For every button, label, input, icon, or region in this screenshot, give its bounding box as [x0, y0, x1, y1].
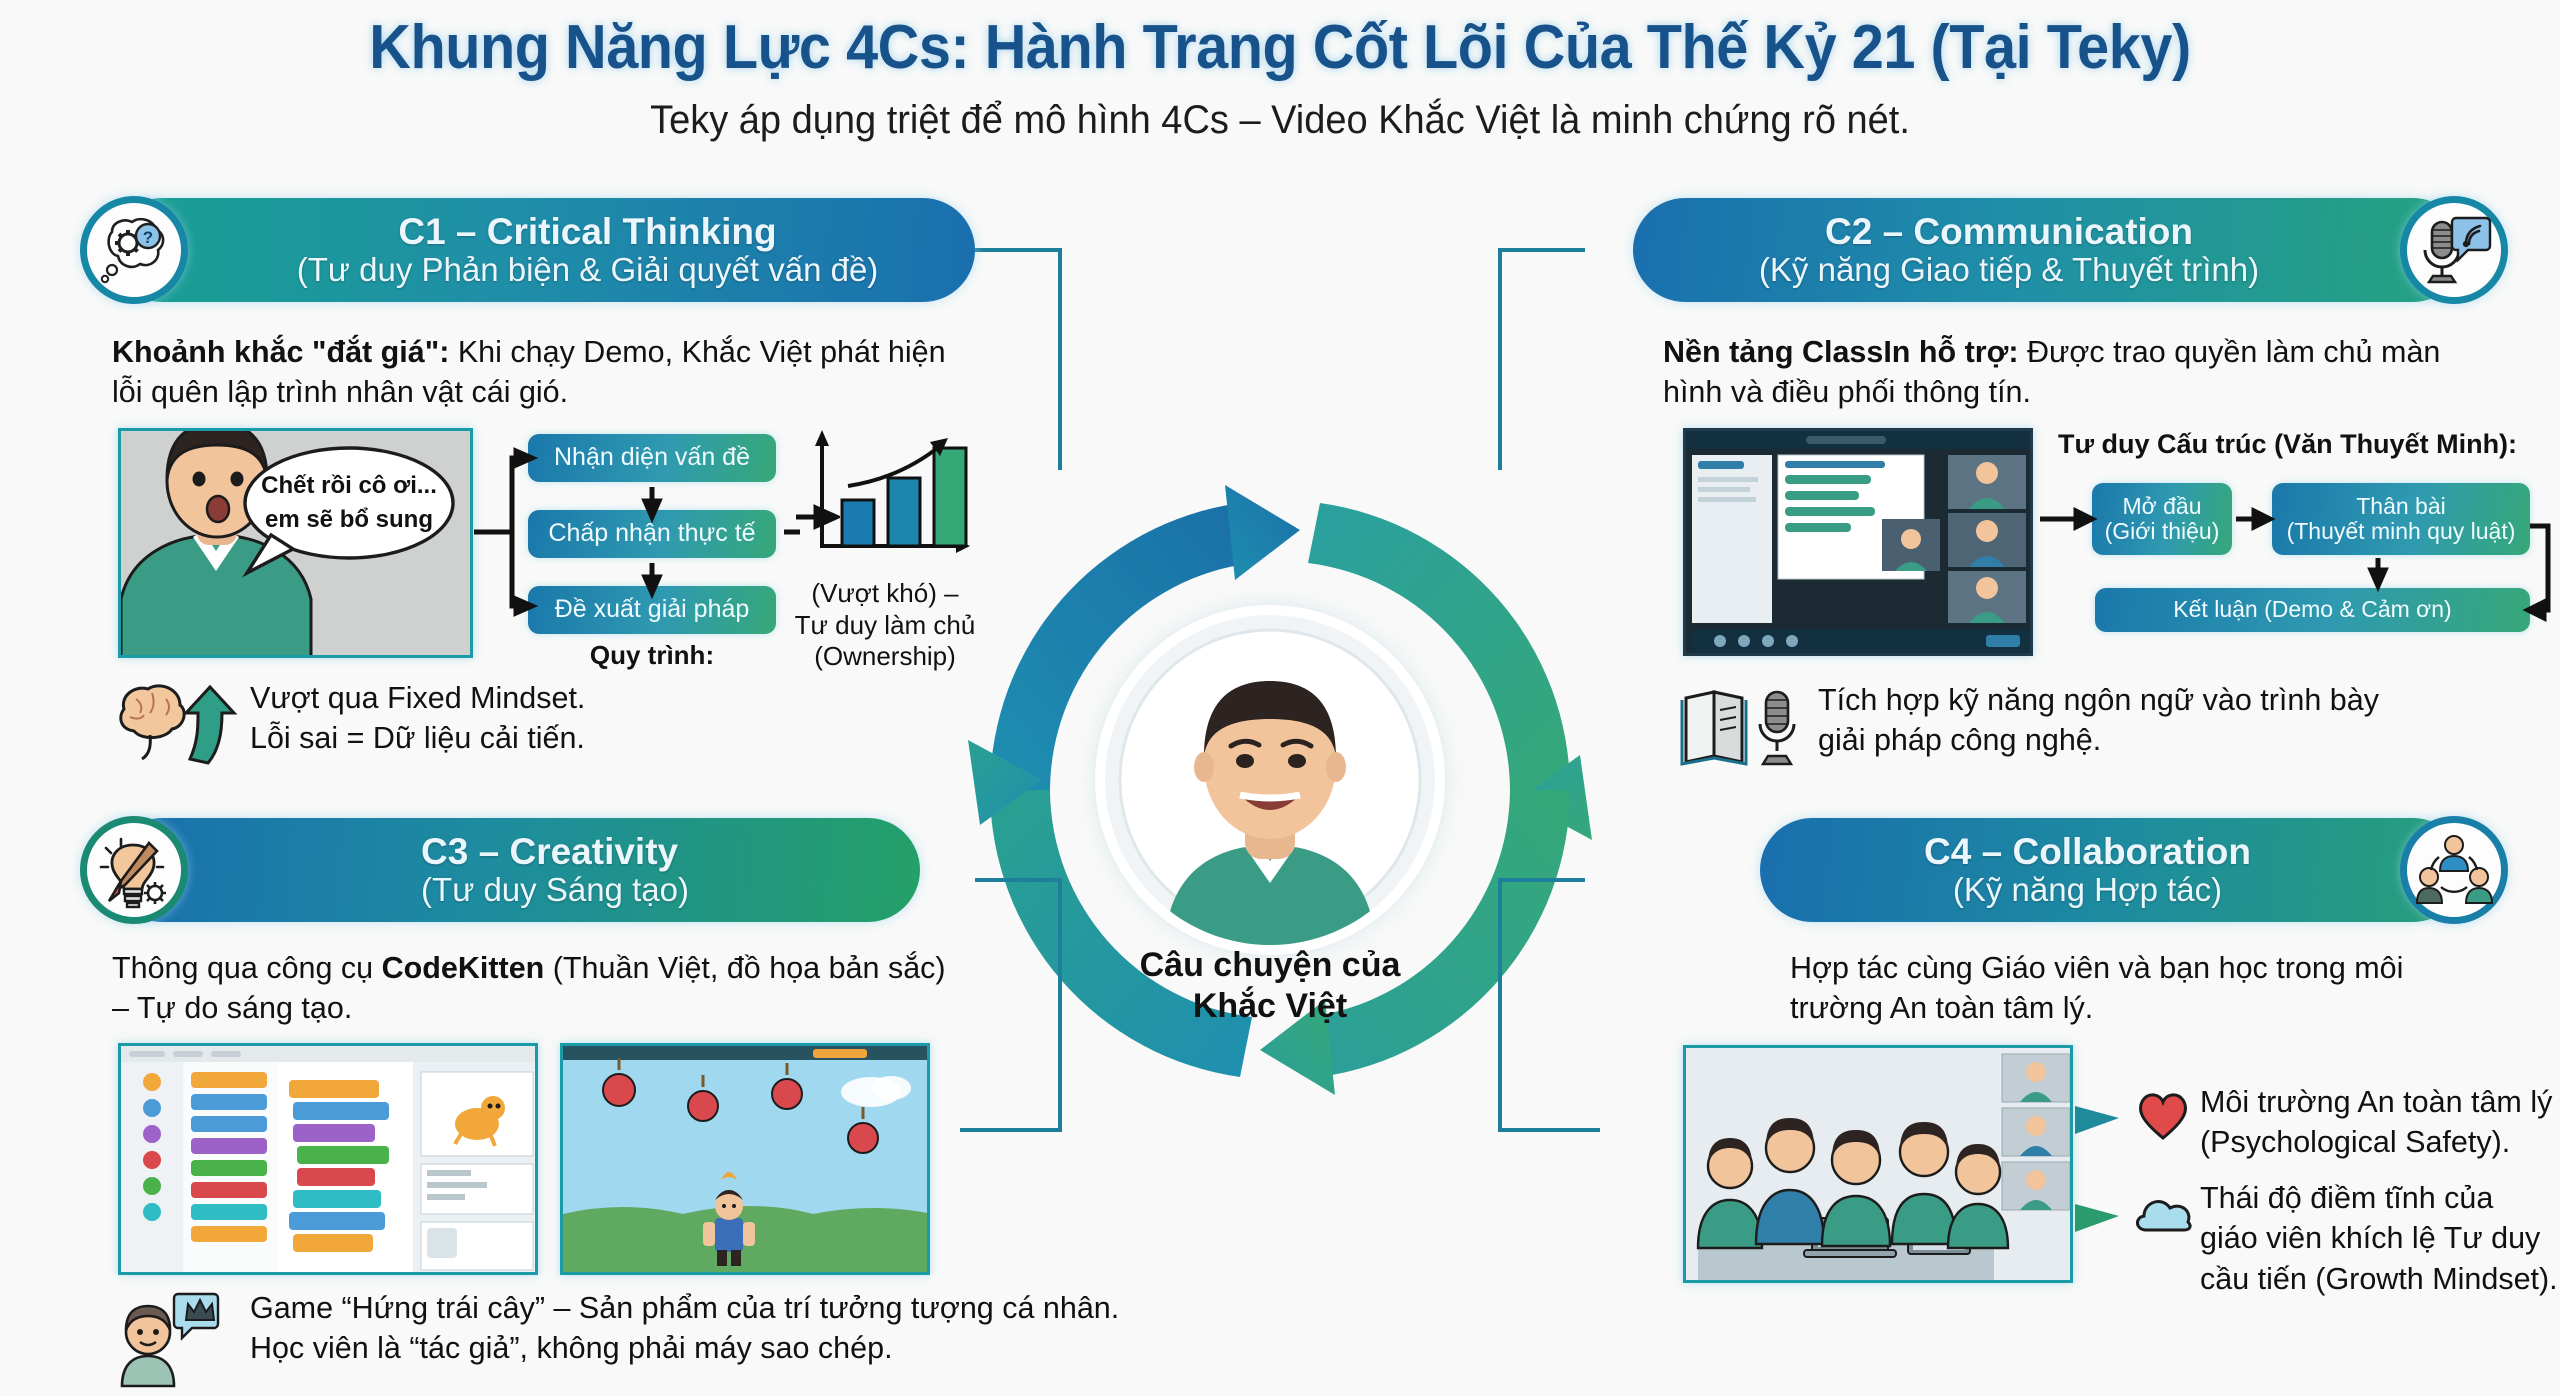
c2-footer-icons	[1680, 678, 1810, 770]
c2-subtitle: (Kỹ năng Giao tiếp & Thuyết trình)	[1759, 252, 2259, 288]
c2-body-bold: Nền tảng ClassIn hỗ trợ:	[1663, 335, 2019, 369]
c1-growth-bar-chart	[800, 428, 970, 568]
center-label-line2: Khắc Việt	[1193, 987, 1347, 1025]
c1-student-photo: Chết rồi cô ơi... em sẽ bổ sung	[118, 428, 473, 658]
c4-bullet-1-l1: Môi trường An toàn tâm lý	[2200, 1085, 2552, 1119]
c1-body-text: Khoảnh khắc "đắt giá": Khi chạy Demo, Kh…	[112, 332, 952, 413]
c4-title: C4 – Collaboration	[1924, 832, 2251, 872]
infographic-canvas: Khung Năng Lực 4Cs: Hành Trang Cốt Lõi C…	[0, 0, 2560, 1396]
c3-icon-badge	[80, 816, 188, 924]
microphone-speech-bubble-icon	[2416, 212, 2492, 288]
center-label-line1: Câu chuyện của	[1140, 946, 1401, 984]
heart-icon	[2135, 1090, 2191, 1140]
lightbulb-paintbrush-gear-icon	[95, 831, 173, 909]
student-crown-icon	[122, 1294, 218, 1386]
open-book-icon	[1682, 692, 1746, 764]
c4-icon-badge	[2400, 816, 2508, 924]
c4-bullet-2-l1: Thái độ điềm tĩnh của	[2200, 1181, 2493, 1215]
c2-title: C2 – Communication	[1759, 212, 2259, 252]
c3-body-bold: CodeKitten	[382, 951, 545, 985]
c2-structure-arrows	[2040, 470, 2560, 650]
svg-text:?: ?	[143, 228, 153, 247]
up-arrow-icon	[186, 687, 234, 763]
c4-body-text: Hợp tác cùng Giáo viên và bạn học trong …	[1790, 948, 2550, 1029]
svg-text:em sẽ bổ sung: em sẽ bổ sung	[265, 506, 433, 533]
c2-body-text: Nền tảng ClassIn hỗ trợ: Được trao quyền…	[1663, 332, 2483, 413]
c3-body-p1: Thông qua công cụ	[112, 951, 382, 985]
center-hub-label: Câu chuyện của Khắc Việt	[1060, 945, 1480, 1027]
c3-footer-l1: Game “Hứng trái cây” – Sản phẩm của trí …	[250, 1291, 1119, 1325]
c4-body-l2: trường An toàn tâm lý.	[1790, 991, 2093, 1025]
c1-chart-caption-l1: (Vượt khó) –	[811, 578, 958, 608]
c2-footer-l2: giải pháp công nghệ.	[1818, 723, 2101, 757]
quadrant-header-c3[interactable]: C3 – Creativity (Tư duy Sáng tạo)	[110, 818, 920, 922]
c4-bullet-2-text: Thái độ điềm tĩnh của giáo viên khích lệ…	[2200, 1178, 2560, 1299]
quadrant-header-c2[interactable]: C2 – Communication (Kỹ năng Giao tiếp & …	[1633, 198, 2465, 302]
c1-process-arrows	[460, 425, 800, 655]
quadrant-header-c1[interactable]: C1 – Critical Thinking (Tư duy Phản biện…	[110, 198, 975, 302]
c3-footer-text: Game “Hứng trái cây” – Sản phẩm của trí …	[250, 1288, 1250, 1369]
c4-subtitle: (Kỹ năng Hợp tác)	[1924, 872, 2251, 908]
center-hub-avatar	[1105, 615, 1435, 945]
c4-bullet-2-l3: cầu tiến (Growth Mindset).	[2200, 1262, 2558, 1296]
c1-body-bold: Khoảnh khắc "đắt giá":	[112, 335, 449, 369]
quadrant-header-c4[interactable]: C4 – Collaboration (Kỹ năng Hợp tác)	[1760, 818, 2465, 922]
c1-footer-text: Vượt qua Fixed Mindset. Lỗi sai = Dữ liệ…	[250, 678, 810, 759]
c3-body-text: Thông qua công cụ CodeKitten (Thuần Việt…	[112, 948, 952, 1029]
c2-footer-l1: Tích hợp kỹ năng ngôn ngữ vào trình bày	[1818, 683, 2379, 717]
thought-bubble-gear-question-icon: ?	[94, 210, 174, 290]
c1-footer-l2: Lỗi sai = Dữ liệu cải tiến.	[250, 721, 585, 755]
microphone-icon	[1760, 692, 1794, 764]
svg-text:Chết rồi cô ơi...: Chết rồi cô ơi...	[261, 472, 437, 499]
c2-structure-label: Tư duy Cấu trúc (Văn Thuyết Minh):	[2058, 428, 2558, 461]
c3-footer-l2: Học viên là “tác giả”, không phải máy sa…	[250, 1331, 893, 1365]
c4-classroom-photo	[1683, 1045, 2073, 1283]
c3-codekitten-editor-screenshot	[118, 1043, 538, 1275]
c2-icon-badge	[2400, 196, 2508, 304]
c2-classin-screenshot	[1683, 428, 2033, 656]
c4-bullet-1-text: Môi trường An toàn tâm lý (Psychological…	[2200, 1082, 2560, 1163]
c1-footer-l1: Vượt qua Fixed Mindset.	[250, 681, 585, 715]
c3-title: C3 – Creativity	[421, 832, 689, 872]
c1-icon-badge: ?	[80, 196, 188, 304]
c3-footer-icon	[112, 1290, 222, 1390]
c1-chart-caption: (Vượt khó) – Tư duy làm chủ (Ownership)	[790, 578, 980, 673]
c1-footer-icons	[112, 675, 242, 770]
c1-process-label: Quy trình:	[528, 640, 776, 672]
c4-bullet-1-l2: (Psychological Safety).	[2200, 1125, 2510, 1159]
c4-bullet-2-l2: giáo viên khích lệ Tư duy	[2200, 1221, 2540, 1255]
c1-chart-caption-l2: Tư duy làm chủ	[795, 610, 976, 640]
c2-footer-text: Tích hợp kỹ năng ngôn ngữ vào trình bày …	[1818, 680, 2558, 761]
c1-title: C1 – Critical Thinking	[297, 212, 879, 252]
c3-fruit-catch-game-screenshot	[560, 1043, 930, 1275]
gear-icon	[144, 882, 166, 904]
cloud-icon	[2132, 1190, 2194, 1234]
wifi-speech-bubble-icon	[2452, 218, 2490, 260]
three-people-network-icon	[2415, 831, 2493, 909]
c3-subtitle: (Tư duy Sáng tạo)	[421, 872, 689, 908]
c4-body-l1: Hợp tác cùng Giáo viên và bạn học trong …	[1790, 951, 2403, 985]
brain-icon	[121, 686, 184, 759]
c1-subtitle: (Tư duy Phản biện & Giải quyết vấn đề)	[297, 252, 879, 288]
c1-chart-caption-l3: (Ownership)	[814, 641, 956, 671]
